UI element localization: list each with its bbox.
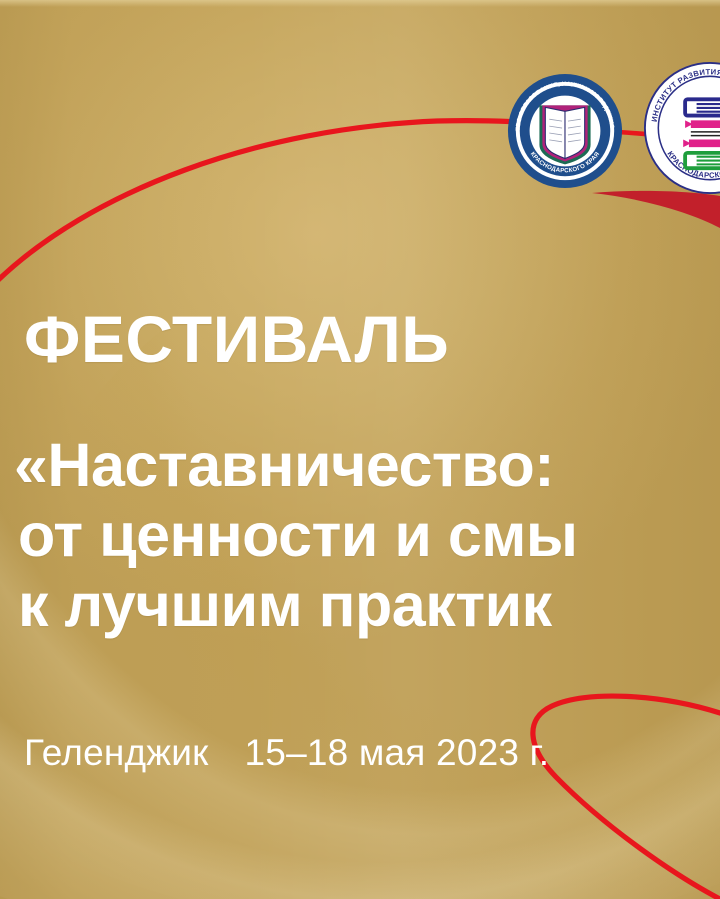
ministry-logo-icon: МИНИСТЕРСТВО ОБРАЗОВАНИЯ, НАУКИ И МОЛОДЕ… — [506, 72, 624, 190]
venue-city: Геленджик — [24, 732, 209, 773]
venue-and-dates: Геленджик15–18 мая 2023 г. — [24, 732, 549, 774]
venue-dates: 15–18 мая 2023 г. — [245, 732, 550, 773]
subtitle-line-3: к лучшим практик — [0, 575, 720, 636]
subtitle-line-2: от ценности и смы — [0, 505, 720, 566]
headline-block: ФЕСТИВАЛЬ «Наставничество: от ценности и… — [0, 306, 720, 636]
red-arc-top-left — [0, 121, 556, 284]
page-title: ФЕСТИВАЛЬ — [0, 306, 720, 380]
red-loop-bottom — [533, 696, 720, 899]
festival-poster: МИНИСТЕРСТВО ОБРАЗОВАНИЯ, НАУКИ И МОЛОДЕ… — [0, 0, 720, 899]
subtitle-line-1: «Наставничество: — [0, 435, 720, 496]
red-wedge — [592, 191, 720, 228]
